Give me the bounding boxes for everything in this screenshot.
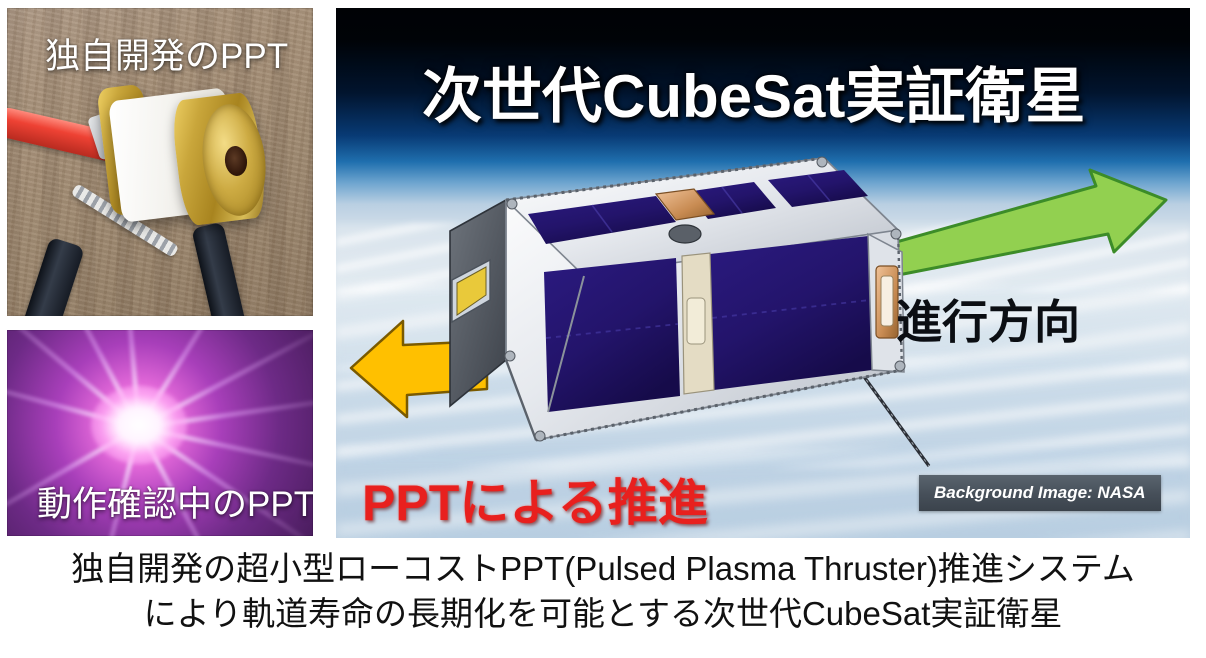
direction-label: 進行方向 bbox=[896, 286, 1080, 352]
main-illustration-panel: 次世代CubeSat実証衛星 bbox=[336, 8, 1190, 538]
ppt-hardware-photo: 独自開発のPPT bbox=[7, 8, 313, 316]
page-title: 次世代CubeSat実証衛星 bbox=[422, 48, 1085, 135]
caption-line-2: により軌道寿命の長期化を可能とする次世代CubeSat実証衛星 bbox=[0, 591, 1206, 636]
background-credit-badge: Background Image: NASA bbox=[919, 475, 1161, 511]
slide-root: 独自開発のPPT 動作確認中のPPT 次世代CubeSat実証衛星 bbox=[0, 0, 1206, 658]
discharge-photo-caption: 動作確認中のPPT bbox=[37, 476, 313, 527]
thrust-label: PPTによる推進 bbox=[362, 463, 708, 535]
figure-caption: 独自開発の超小型ローコストPPT(Pulsed Plasma Thruster)… bbox=[0, 546, 1206, 636]
cubesat-illustration bbox=[424, 148, 944, 478]
ppt-discharge-photo: 動作確認中のPPT bbox=[7, 330, 313, 536]
ppt-photo-caption: 独自開発のPPT bbox=[45, 28, 288, 79]
plasma-core-flash bbox=[91, 386, 187, 464]
caption-line-1: 独自開発の超小型ローコストPPT(Pulsed Plasma Thruster)… bbox=[0, 546, 1206, 591]
